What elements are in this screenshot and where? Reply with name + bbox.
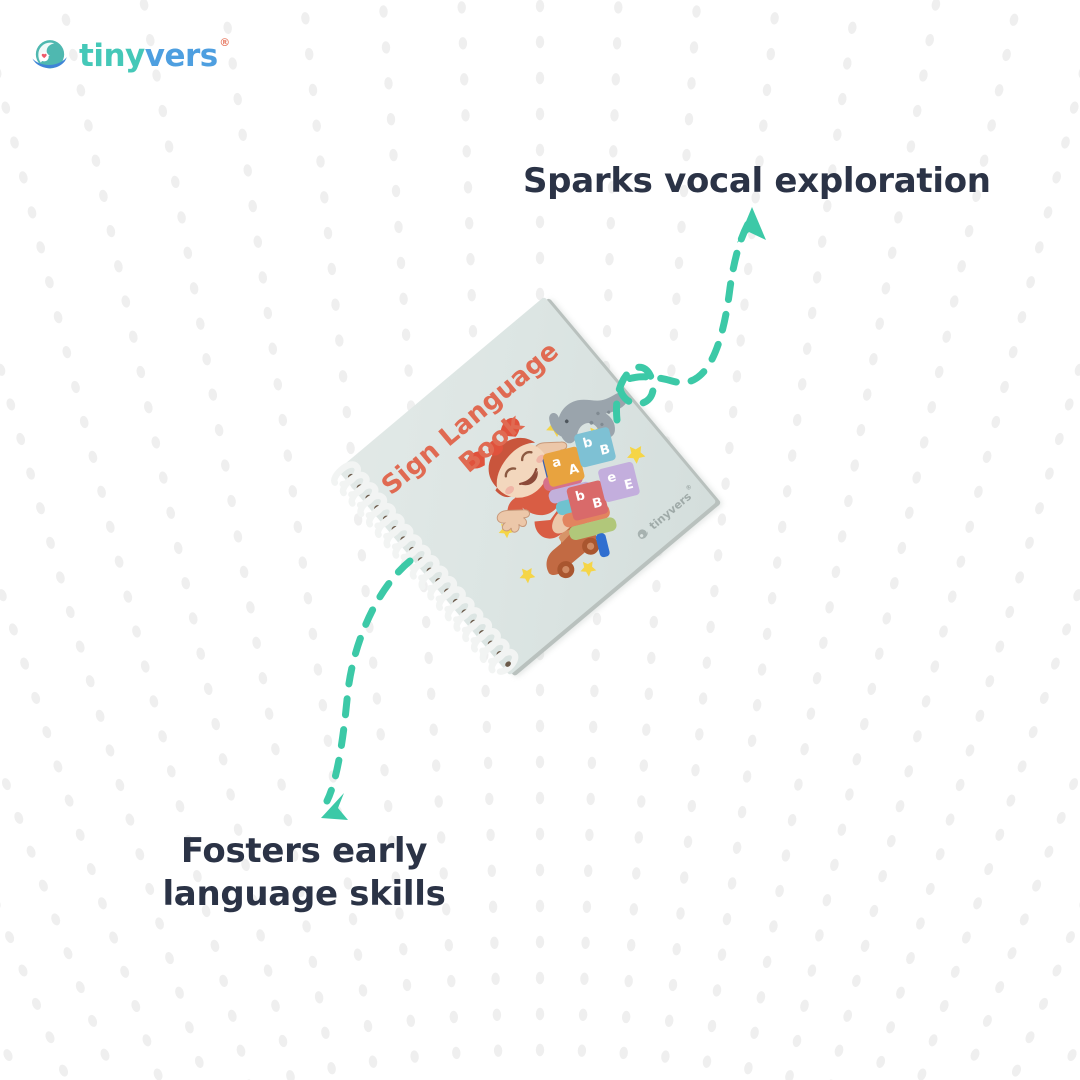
brand-word-vers: vers [145, 38, 218, 74]
callout-sparks-vocal-exploration: Sparks vocal exploration [523, 160, 991, 203]
callout-fosters-early-language-skills: Fosters early language skills [104, 830, 504, 915]
tinyvers-circle-swoosh-icon [30, 36, 70, 76]
spiral-book: aA bB bB eE [337, 297, 716, 676]
brand-logo[interactable]: tinyvers® [30, 36, 218, 76]
brand-word-tiny: tiny [79, 38, 145, 74]
registered-trademark-icon: ® [219, 37, 230, 48]
brand-wordmark: tinyvers® [79, 41, 218, 72]
product-image-sign-language-book[interactable]: aA bB bB eE [300, 280, 740, 700]
book-cover: aA bB bB eE [337, 297, 716, 676]
